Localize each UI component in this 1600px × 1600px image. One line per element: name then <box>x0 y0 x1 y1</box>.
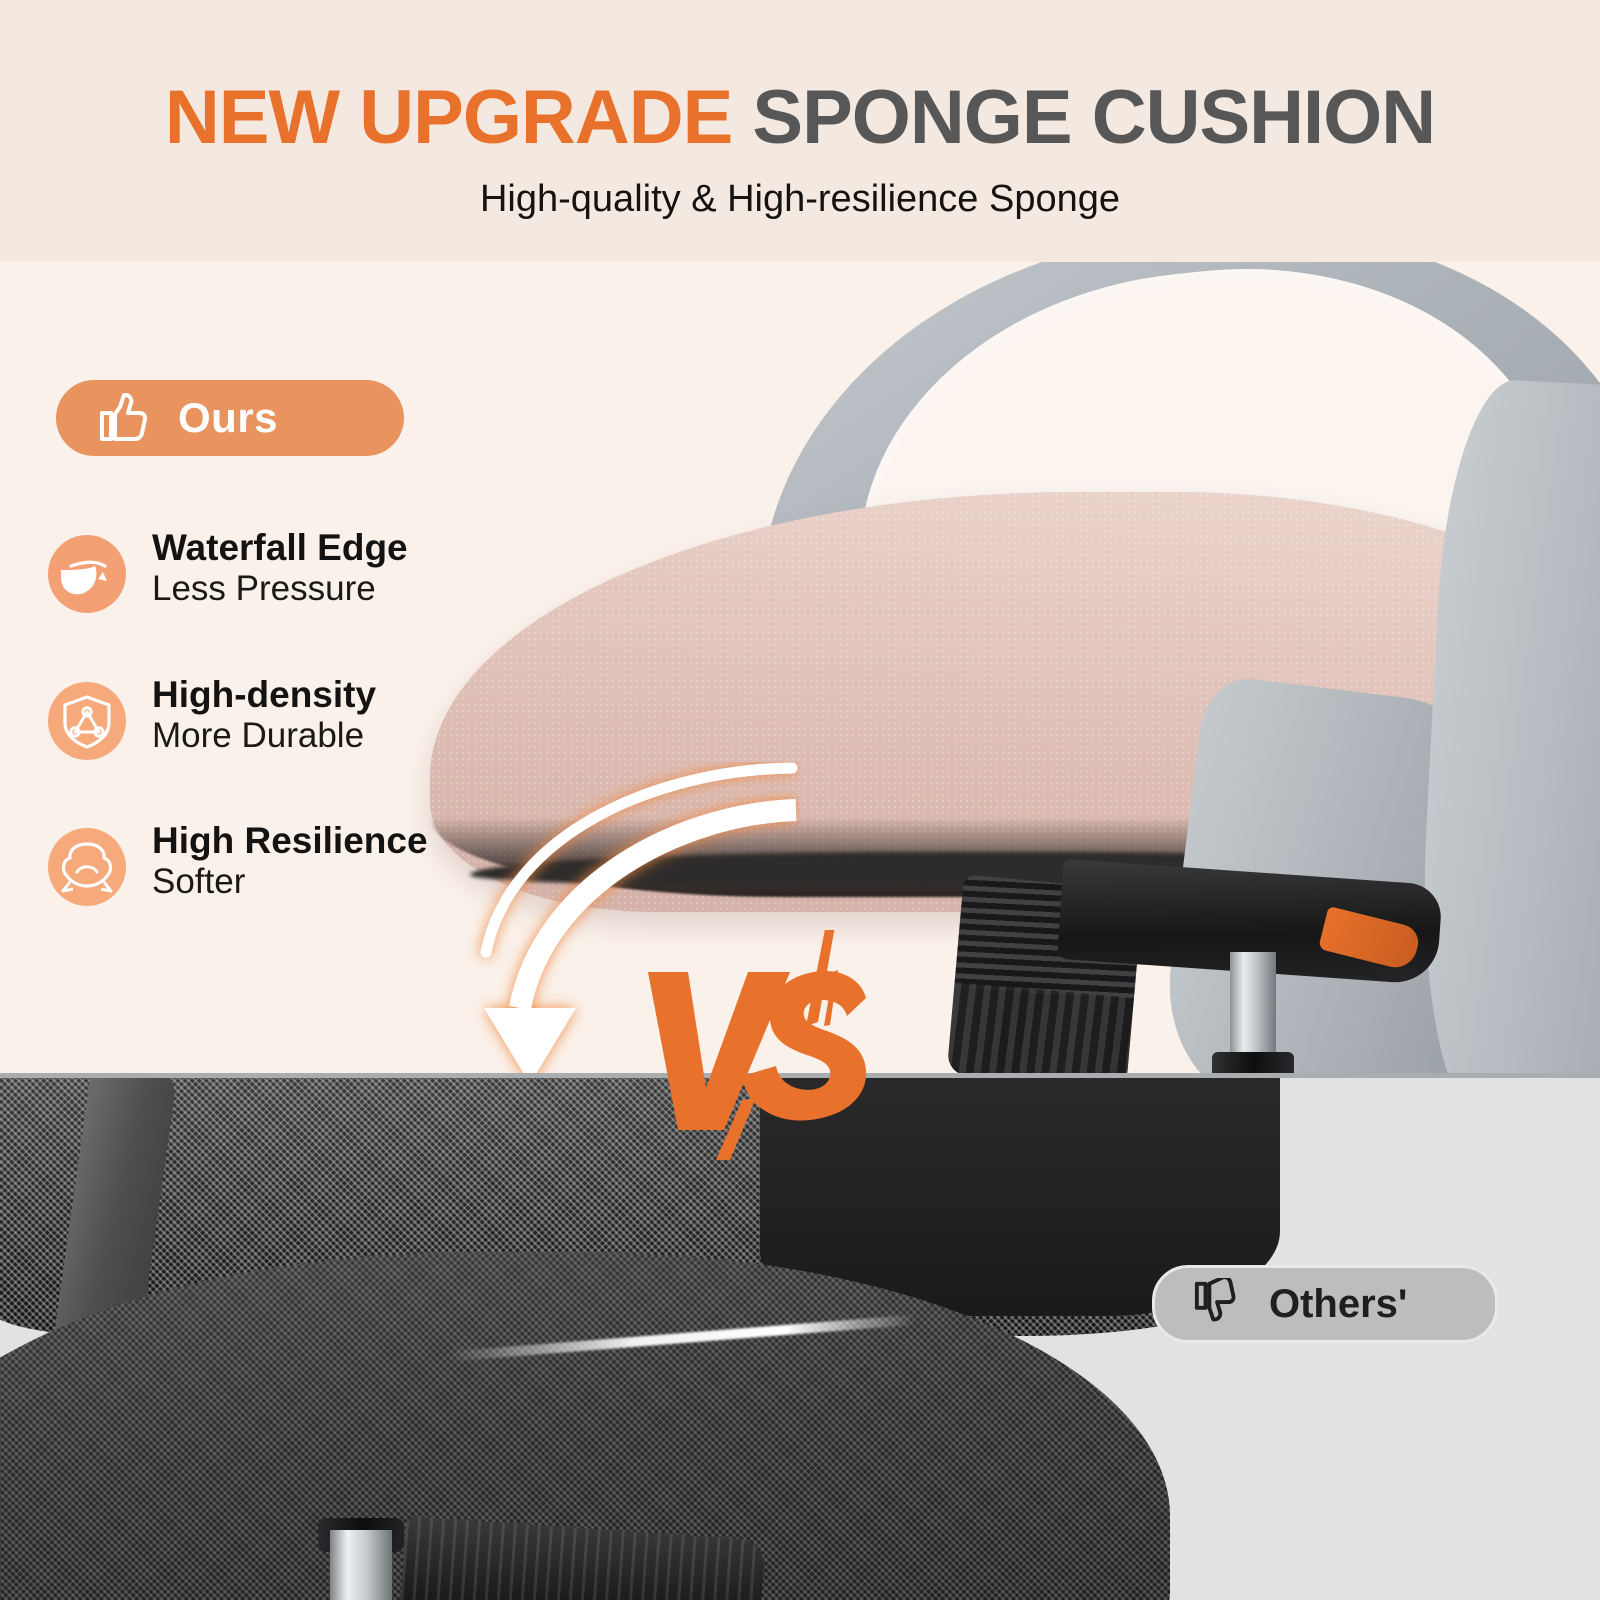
feature-title: High Resilience <box>152 820 428 861</box>
vs-graphic <box>630 930 890 1160</box>
shield-density-icon <box>48 682 126 760</box>
feature-subtitle: Softer <box>152 862 245 901</box>
waterfall-edge-icon <box>48 535 126 613</box>
cushion-resilience-icon <box>48 828 126 906</box>
feature-subtitle: Less Pressure <box>152 569 376 608</box>
ours-feature-panel: Ours Waterfall Edge Less Pressure <box>0 262 560 1073</box>
ours-badge-label: Ours <box>178 394 278 442</box>
thumbs-down-icon <box>1193 1278 1245 1330</box>
title-highlight: NEW UPGRADE <box>165 75 732 160</box>
page-title: NEW UPGRADE SPONGE CUSHION <box>0 74 1600 161</box>
header-band: NEW UPGRADE SPONGE CUSHION High-quality … <box>0 0 1600 262</box>
others-badge[interactable]: Others' <box>1152 1265 1498 1343</box>
feature-subtitle: More Durable <box>152 716 364 755</box>
feature-title: Waterfall Edge <box>152 527 408 568</box>
title-rest: SPONGE CUSHION <box>752 75 1435 160</box>
ours-badge[interactable]: Ours <box>56 380 404 456</box>
page-subtitle: High-quality & High-resilience Sponge <box>0 178 1600 221</box>
piston-collar <box>1212 1052 1294 1073</box>
feature-title: High-density <box>152 674 376 715</box>
black-chrome-piston <box>330 1530 392 1600</box>
feature-item-high-density: High-density More Durable <box>48 674 376 760</box>
others-badge-label: Others' <box>1269 1282 1407 1327</box>
thumbs-up-icon <box>98 392 152 444</box>
infographic-page: Ours Waterfall Edge Less Pressure <box>0 0 1600 1600</box>
feature-item-waterfall-edge: Waterfall Edge Less Pressure <box>48 527 408 613</box>
feature-item-high-resilience: High Resilience Softer <box>48 820 428 906</box>
